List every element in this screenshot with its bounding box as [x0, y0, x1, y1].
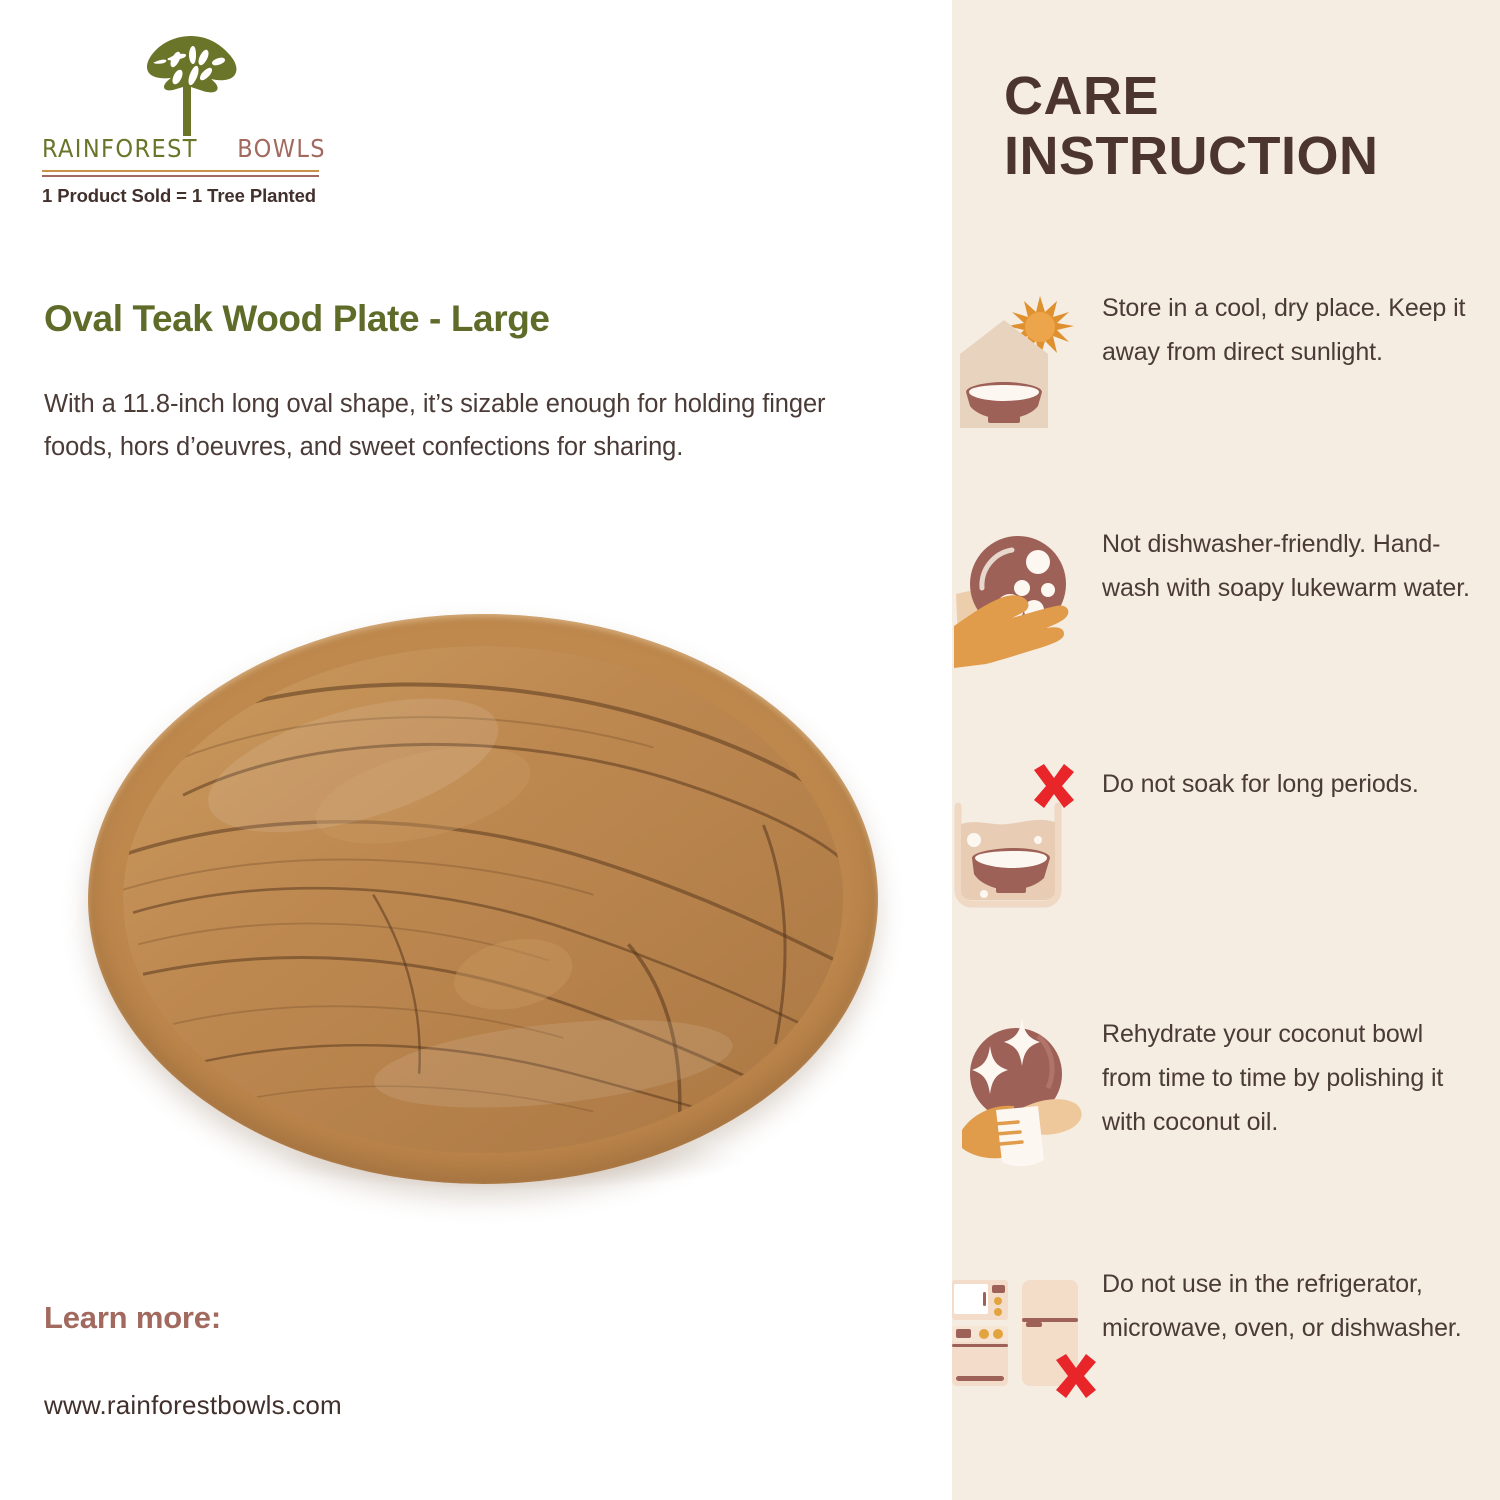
care-item-text: Do not soak for long periods. [1102, 762, 1500, 1012]
product-title: Oval Teak Wood Plate - Large [44, 298, 844, 340]
red-x-icon [1034, 764, 1074, 808]
logo-word-rainforest: RAINFOREST [42, 134, 198, 163]
logo-divider-mauve [42, 175, 319, 177]
polishing-bowl-with-cloth-icon [952, 1012, 1102, 1162]
brand-tagline: 1 Product Sold = 1 Tree Planted [42, 185, 316, 207]
microwave-icon [952, 1280, 1008, 1320]
teak-plate-well [123, 646, 843, 1153]
wood-grain-pattern [123, 646, 843, 1153]
logo-divider-orange [42, 170, 319, 172]
care-item: Do not use in the refrigerator, microwav… [952, 1262, 1500, 1442]
house-with-bowl-and-sun-icon [952, 286, 1102, 436]
care-instruction-heading: CARE INSTRUCTION [1004, 66, 1474, 186]
acacia-tree-icon [145, 32, 237, 147]
brand-logo: RAINFOREST BOWLS 1 Product Sold = 1 Tree… [42, 30, 332, 158]
care-instruction-panel: CARE INSTRUCTION [952, 0, 1500, 1500]
product-photo [60, 600, 900, 1240]
care-item: Rehydrate your coconut bowl from time to… [952, 1012, 1500, 1262]
polish-cloth [996, 1106, 1044, 1166]
care-item: Do not soak for long periods. [952, 762, 1500, 1012]
learn-more-label: Learn more: [44, 1300, 221, 1336]
care-item-text: Not dishwasher-friendly. Hand-wash with … [1102, 522, 1500, 762]
hand-washing-plate-icon [952, 522, 1102, 672]
care-item: Not dishwasher-friendly. Hand-wash with … [952, 522, 1500, 762]
care-item-text: Rehydrate your coconut bowl from time to… [1102, 1012, 1500, 1262]
bowl-soaking-in-water-icon [952, 762, 1102, 912]
website-url[interactable]: www.rainforestbowls.com [44, 1390, 342, 1421]
refrigerator-microwave-oven-icon [952, 1262, 1102, 1412]
teak-plate-outer-rim [88, 614, 878, 1184]
logo-wordmark: RAINFOREST BOWLS [42, 134, 332, 163]
product-description: With a 11.8-inch long oval shape, it’s s… [44, 383, 874, 469]
care-heading-line-1: CARE [1004, 66, 1474, 126]
care-item-text: Do not use in the refrigerator, microwav… [1102, 1262, 1500, 1442]
left-panel: RAINFOREST BOWLS 1 Product Sold = 1 Tree… [0, 0, 952, 1500]
logo-divider [42, 170, 319, 177]
logo-word-bowls: BOWLS [237, 134, 332, 163]
care-heading-line-2: INSTRUCTION [1004, 126, 1474, 186]
care-item-text: Store in a cool, dry place. Keep it away… [1102, 286, 1500, 522]
care-item: Store in a cool, dry place. Keep it away… [952, 286, 1500, 522]
care-instruction-list: Store in a cool, dry place. Keep it away… [952, 286, 1500, 1442]
oven-icon [952, 1326, 1008, 1386]
infographic-page: RAINFOREST BOWLS 1 Product Sold = 1 Tree… [0, 0, 1500, 1500]
